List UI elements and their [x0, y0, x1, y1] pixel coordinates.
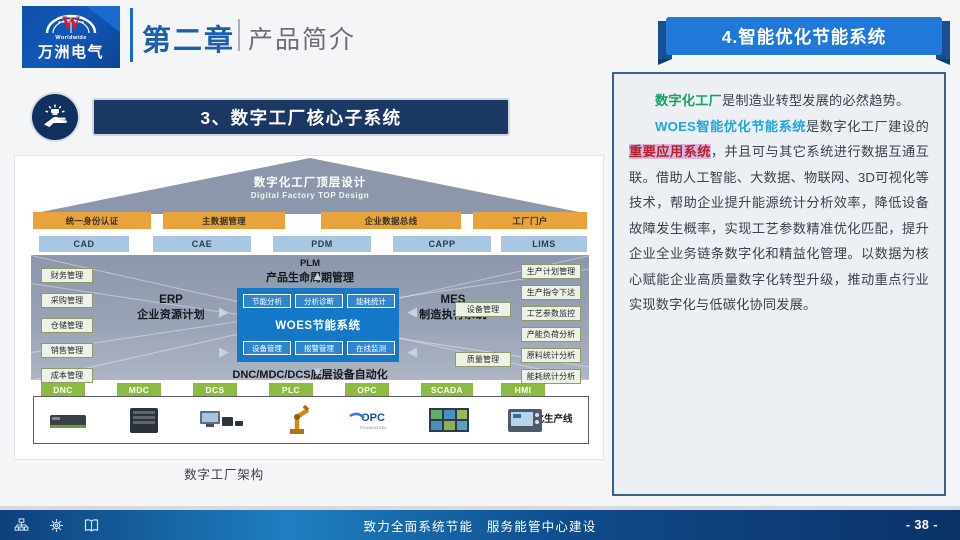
woes-module-box[interactable]: 能耗统计 — [347, 294, 395, 308]
emphasis-woes-system: WOES智能优化节能系统 — [655, 119, 806, 134]
section-title-bar: 3、数字工厂核心子系统 — [92, 98, 510, 136]
paragraph-1: 数字化工厂是制造业转型发展的必然趋势。 — [629, 88, 929, 114]
mes-function-box[interactable]: 生产指令下达 — [521, 285, 581, 300]
automation-protocol-box[interactable]: HMI — [501, 383, 545, 397]
erp-block: ERP 企业资源计划 — [119, 294, 223, 322]
platform-service-box[interactable]: 主数据管理 — [163, 212, 285, 229]
plm-code: PLM — [15, 258, 605, 269]
mes-function-box[interactable]: 设备管理 — [455, 302, 511, 317]
diagram-caption: 数字工厂架构 — [14, 464, 434, 483]
header-separator — [238, 19, 240, 51]
robot-arm-icon — [266, 401, 328, 439]
pyramid-graphic: 数字化工厂顶层设计 Digital Factory TOP Design 统一身… — [15, 156, 605, 414]
woes-module-box[interactable]: 在线监测 — [347, 341, 395, 355]
mes-function-box[interactable]: 原料统计分析 — [521, 348, 581, 363]
pyramid-apex: 数字化工厂顶层设计 Digital Factory TOP Design — [31, 158, 589, 216]
woes-module-box[interactable]: 节能分析 — [243, 294, 291, 308]
mes-function-box[interactable]: 生产计划管理 — [521, 264, 581, 279]
design-tools-row: CADCAEPDMCAPPLIMS — [33, 236, 587, 252]
woes-system-block: WOES节能系统 节能分析分析诊断能耗统计设备管理报警管理在线监测 — [237, 288, 399, 362]
erp-code: ERP — [119, 294, 223, 306]
woes-module-box[interactable]: 设备管理 — [243, 341, 291, 355]
slide-header: W Worldwide 万洲电气 第二章 产品简介 4.智能优化节能系统 — [0, 0, 960, 72]
erp-function-box[interactable]: 财务管理 — [41, 268, 93, 283]
chapter-subtitle: 产品简介 — [248, 20, 356, 56]
logo-chinese-name: 万洲电气 — [22, 41, 120, 62]
controller-icon — [38, 401, 100, 439]
mes-function-box[interactable]: 产能负荷分析 — [521, 327, 581, 342]
banner-title: 4.智能优化节能系统 — [722, 24, 887, 49]
dnc-layer-label: DNC/MDC/DCS底层设备自动化 — [15, 366, 605, 382]
design-tool-box[interactable]: CAD — [39, 236, 129, 252]
design-tool-box[interactable]: LIMS — [501, 236, 587, 252]
automation-protocol-box[interactable]: PLC — [269, 383, 313, 397]
opc-logo-icon: OPCFOUNDATION — [342, 401, 404, 439]
platform-services-row: 统一身份认证主数据管理企业数据总线工厂门户 — [33, 212, 587, 229]
page-number: - 38 - — [906, 510, 938, 540]
platform-service-box[interactable]: 统一身份认证 — [33, 212, 151, 229]
flow-arrow-icon: ▶ — [219, 344, 229, 360]
design-tool-box[interactable]: CAPP — [393, 236, 491, 252]
platform-service-box[interactable]: 工厂门户 — [473, 212, 587, 229]
flow-arrow-icon: ▲ — [311, 268, 324, 283]
platform-service-box[interactable]: 企业数据总线 — [321, 212, 461, 229]
mes-function-box[interactable]: 能耗统计分析 — [521, 369, 581, 384]
plm-name: 产品生命周期管理 — [15, 269, 605, 285]
workstation-icon — [190, 401, 252, 439]
erp-name: 企业资源计划 — [119, 306, 223, 322]
mes-function-box[interactable]: 工艺参数监控 — [521, 306, 581, 321]
woes-title: WOES节能系统 — [237, 316, 399, 334]
apex-subtitle: Digital Factory TOP Design — [31, 191, 589, 200]
svg-text:OPC: OPC — [361, 412, 385, 424]
erp-function-box[interactable]: 仓储管理 — [41, 318, 93, 333]
scada-screens-icon — [418, 401, 480, 439]
mes-function-box[interactable]: 质量管理 — [455, 352, 511, 367]
topic-banner: 4.智能优化节能系统 — [658, 17, 950, 59]
emphasis-key-application: 重要应用系统 — [629, 144, 711, 159]
apex-title: 数字化工厂顶层设计 — [31, 174, 589, 190]
section-title: 3、数字工厂核心子系统 — [200, 105, 401, 130]
erp-function-box[interactable]: 销售管理 — [41, 343, 93, 358]
company-logo: W Worldwide 万洲电气 — [22, 6, 120, 68]
flow-arrow-icon: ◀ — [407, 344, 417, 360]
paragraph-2: WOES智能优化节能系统是数字化工厂建设的重要应用系统，并且可与其它系统进行数据… — [629, 114, 929, 318]
flow-arrow-icon: ▶ — [219, 304, 229, 320]
automation-protocol-box[interactable]: SCADA — [421, 383, 473, 397]
footer-slogan: 致力全面系统节能 服务能管中心建设 — [0, 510, 960, 540]
description-panel: 数字化工厂是制造业转型发展的必然趋势。 WOES智能优化节能系统是数字化工厂建设… — [612, 72, 946, 496]
server-icon — [114, 401, 176, 439]
paragraph-1-rest: 是制造业转型发展的必然趋势。 — [722, 93, 909, 108]
hand-idea-icon — [32, 94, 78, 140]
paragraph-2-mid: 是数字化工厂建设的 — [806, 119, 929, 134]
logo-w-letter: W — [62, 13, 81, 35]
automation-protocol-box[interactable]: MDC — [117, 383, 161, 397]
banner-plate: 4.智能优化节能系统 — [666, 17, 942, 55]
flow-arrow-icon: ▼ — [311, 364, 324, 379]
automation-protocol-row: DNCMDCDCSPLCOPCSCADAHMI — [33, 383, 587, 397]
erp-function-box[interactable]: 成本管理 — [41, 368, 93, 383]
device-strip: 自动化生产线 OPCFOUNDATION — [33, 396, 589, 444]
flow-arrow-icon: ◀ — [407, 304, 417, 320]
svg-text:FOUNDATION: FOUNDATION — [360, 425, 386, 430]
chapter-label: 第二章 — [142, 17, 235, 59]
digital-factory-architecture-diagram: 数字化工厂顶层设计 Digital Factory TOP Design 统一身… — [14, 155, 604, 460]
woes-module-box[interactable]: 分析诊断 — [295, 294, 343, 308]
emphasis-digital-factory: 数字化工厂 — [655, 93, 722, 108]
slide-footer: 致力全面系统节能 服务能管中心建设 - 38 - — [0, 510, 960, 540]
automation-protocol-box[interactable]: DNC — [41, 383, 85, 397]
automation-protocol-box[interactable]: OPC — [345, 383, 389, 397]
header-accent-bar — [130, 8, 133, 62]
design-tool-box[interactable]: CAE — [153, 236, 251, 252]
paragraph-2-rest: ，并且可与其它系统进行数据互通互联。借助人工智能、大数据、物联网、3D可视化等技… — [629, 144, 929, 312]
erp-function-box[interactable]: 采购管理 — [41, 293, 93, 308]
design-tool-box[interactable]: PDM — [273, 236, 371, 252]
woes-module-box[interactable]: 报警管理 — [295, 341, 343, 355]
automation-protocol-box[interactable]: DCS — [193, 383, 237, 397]
hmi-panel-icon — [494, 401, 556, 439]
